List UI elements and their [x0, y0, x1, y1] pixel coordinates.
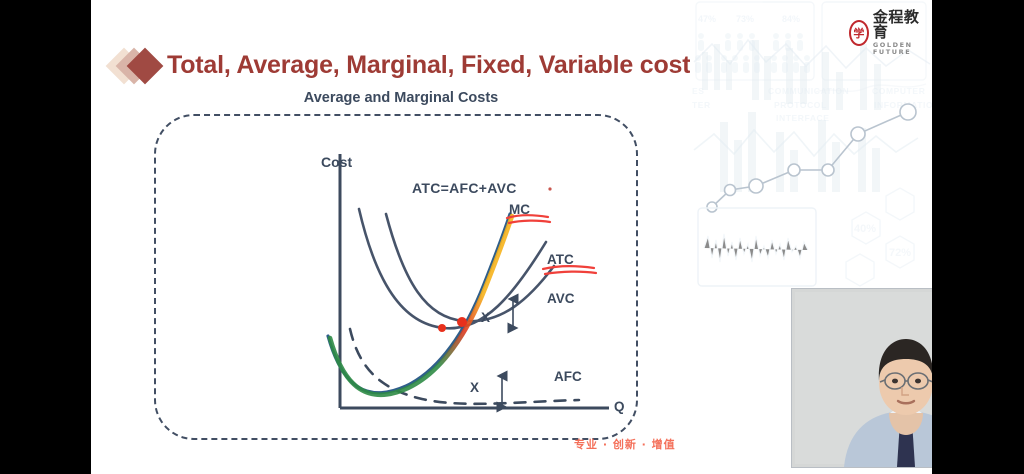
logo-name-cn: 金程教育 — [873, 10, 932, 40]
gap-label-lower: X — [470, 380, 479, 395]
logo-name-en: GOLDEN FUTURE — [873, 42, 932, 55]
curve-mc-highlight — [330, 216, 512, 395]
svg-text:ES: ES — [692, 86, 705, 96]
marker-mc-avc-intersection — [457, 317, 467, 327]
diamond-bullet-icon — [111, 48, 163, 82]
axis-label-cost: Cost — [321, 154, 352, 170]
presentation-slide: Total, Average, Marginal, Fixed, Variabl… — [91, 0, 932, 474]
axis-label-quantity: Q — [614, 399, 625, 414]
stray-dot — [548, 187, 551, 190]
curve-label-afc: AFC — [554, 369, 582, 384]
gap-label-upper: X — [481, 310, 490, 325]
curve-atc — [359, 209, 546, 328]
instructor-video-panel[interactable] — [791, 288, 932, 468]
cost-curves-chart: Cost ATC=AFC+AVC MC ATC AVC AFC Q X X — [154, 114, 654, 444]
svg-text:TER: TER — [692, 100, 711, 110]
equation-annotation: ATC=AFC+AVC — [412, 180, 517, 196]
svg-text:73%: 73% — [736, 14, 754, 24]
page-title: Total, Average, Marginal, Fixed, Variabl… — [167, 51, 704, 80]
brand-slogan: 专业 · 创新 · 增值 — [574, 436, 676, 452]
svg-text:INTERFACE: INTERFACE — [776, 113, 830, 123]
brand-logo: 学 金程教育 GOLDEN FUTURE — [849, 10, 932, 55]
screen: Total, Average, Marginal, Fixed, Variabl… — [0, 0, 1024, 474]
slide-title-row: Total, Average, Marginal, Fixed, Variabl… — [111, 48, 704, 82]
curve-label-atc: ATC — [547, 252, 574, 267]
curve-label-avc: AVC — [547, 291, 575, 306]
slide-subtitle: Average and Marginal Costs — [91, 90, 711, 106]
svg-text:PROTOCOL: PROTOCOL — [774, 100, 827, 110]
logo-text-block: 金程教育 GOLDEN FUTURE — [873, 10, 932, 55]
curve-label-mc: MC — [509, 202, 530, 217]
curve-mc-base — [328, 214, 510, 393]
logo-seal-icon: 学 — [849, 20, 869, 46]
svg-text:84%: 84% — [782, 14, 800, 24]
marker-mc-atc-intersection — [438, 324, 446, 332]
svg-text:47%: 47% — [698, 14, 716, 24]
svg-text:40%: 40% — [854, 223, 876, 235]
svg-text:72%: 72% — [889, 247, 911, 259]
svg-text:COMPUTER: COMPUTER — [872, 86, 925, 96]
